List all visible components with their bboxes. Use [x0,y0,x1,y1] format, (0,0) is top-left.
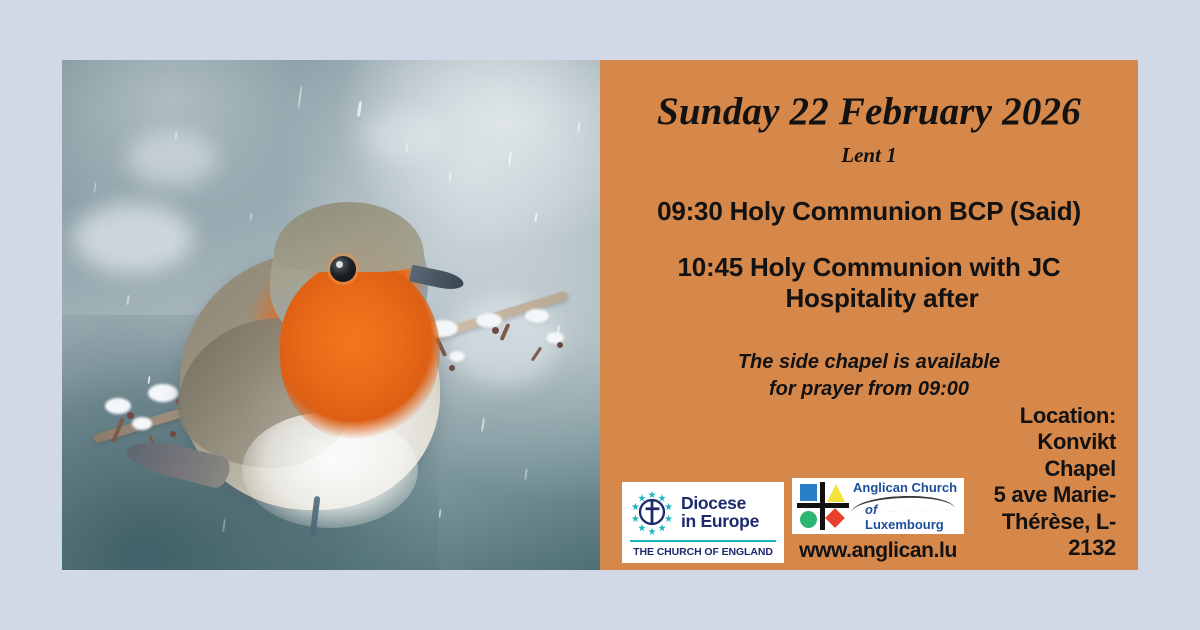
location-line-1: Konvikt Chapel [972,429,1116,482]
anglican-logo-text: Anglican Church of Luxembourg [853,481,959,532]
branch-snow-lump [105,398,131,414]
branch-bud [557,342,563,348]
service-title: Holy Communion with JC [750,252,1060,282]
diocese-name-line-1: Diocese [681,494,759,512]
bird-red-breast [280,262,440,440]
location-line-3: Thérèse, L-2132 [972,509,1116,562]
yellow-triangle-icon [827,484,845,502]
diocese-strapline: THE CHURCH OF ENGLAND [629,546,777,558]
green-circle-icon [800,511,817,528]
branch-bud [492,327,499,334]
anglican-shapes-icon [797,482,849,530]
anglican-church-luxembourg-block: Anglican Church of Luxembourg www.anglic… [792,478,964,563]
location-label: Location: [972,403,1116,429]
diocese-logo-top: Diocese in Europe [629,489,777,535]
service-list: 09:30 Holy Communion BCP (Said) 10:45 Ho… [622,196,1116,315]
location-block: Location: Konvikt Chapel 5 ave Marie- Th… [972,403,1116,563]
liturgical-season: Lent 1 [622,143,1116,168]
service-title: Holy Communion BCP (Said) [730,196,1081,226]
service-item: 10:45 Holy Communion with JC Hospitality… [622,252,1116,315]
anglican-church-luxembourg-logo: Anglican Church of Luxembourg [792,478,964,534]
service-info-panel: Sunday 22 February 2026 Lent 1 09:30 Hol… [600,60,1138,570]
bird-eye [330,256,356,282]
cross-horizontal-bar-icon [797,503,849,508]
robin-snow-photo [62,60,600,570]
service-time: 10:45 [677,252,743,282]
note-line-1: The side chapel is available [622,349,1116,376]
branch-bud [127,412,134,419]
service-extra: Hospitality after [622,283,1116,315]
diocese-name-line-2: in Europe [681,512,759,530]
service-time: 09:30 [657,196,723,226]
branch-snow-lump [525,309,549,323]
note-line-2: for prayer from 09:00 [622,376,1116,403]
branch-snow-lump [132,417,152,430]
panel-footer: Diocese in Europe THE CHURCH OF ENGLAND [622,403,1116,569]
branch-twig [531,347,542,362]
poster-canvas: Sunday 22 February 2026 Lent 1 09:30 Hol… [0,0,1200,630]
red-diamond-icon [825,509,845,529]
page-title: Sunday 22 February 2026 [622,92,1116,133]
diocese-cross-emblem-icon [629,489,675,535]
anglican-name-line-1: Anglican Church [853,481,959,495]
snow-blob [363,111,443,161]
location-line-2: 5 ave Marie- [972,482,1116,508]
branch-twig [500,323,511,341]
anglican-city: Luxembourg [865,517,944,532]
snow-blob [127,131,217,186]
service-item: 09:30 Holy Communion BCP (Said) [622,196,1116,228]
blue-square-icon [800,484,817,501]
side-chapel-note: The side chapel is available for prayer … [622,349,1116,403]
diocese-in-europe-logo: Diocese in Europe THE CHURCH OF ENGLAND [622,482,784,564]
anglican-website-url[interactable]: www.anglican.lu [792,539,964,563]
robin-bird [162,200,492,550]
diocese-logo-name: Diocese in Europe [681,494,759,530]
diocese-divider [630,540,776,543]
